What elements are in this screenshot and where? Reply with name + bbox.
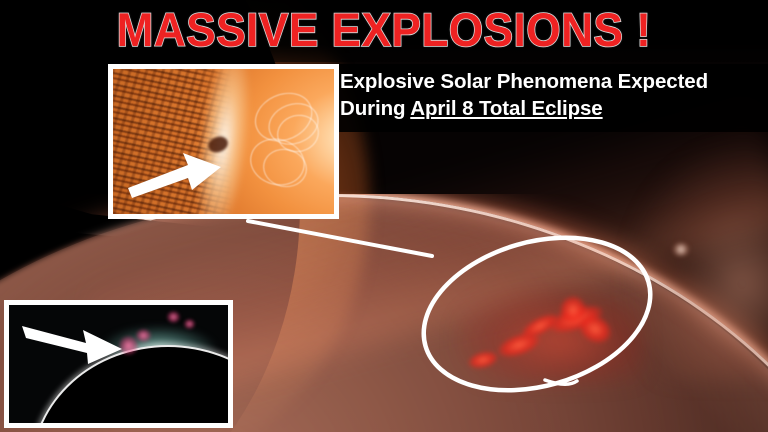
bottom-inset-image	[9, 305, 228, 423]
pink-prominence	[184, 319, 195, 328]
page-title: MASSIVE EXPLOSIONS !	[23, 3, 745, 57]
subtitle-line-2-prefix: During	[340, 97, 410, 120]
bottom-inset	[4, 300, 233, 428]
pink-prominence	[136, 329, 151, 342]
top-inset-image	[113, 69, 334, 214]
subtitle-line-2-underlined: April 8 Total Eclipse	[410, 97, 602, 120]
prominence-glow	[455, 285, 645, 385]
subtitle-line-1: Explosive Solar Phenomena Expected	[340, 68, 764, 95]
youtube-thumbnail: MASSIVE EXPLOSIONS ! Explosive Solar Phe…	[0, 0, 768, 432]
subtitle: Explosive Solar Phenomena Expected Durin…	[340, 68, 764, 122]
top-inset	[108, 64, 339, 219]
subtitle-line-2: During April 8 Total Eclipse	[340, 95, 764, 122]
pink-prominence	[167, 311, 180, 323]
white-arrow-right-icon	[126, 150, 224, 200]
white-arrow-right-icon	[20, 319, 126, 367]
limb-bead	[672, 243, 690, 256]
